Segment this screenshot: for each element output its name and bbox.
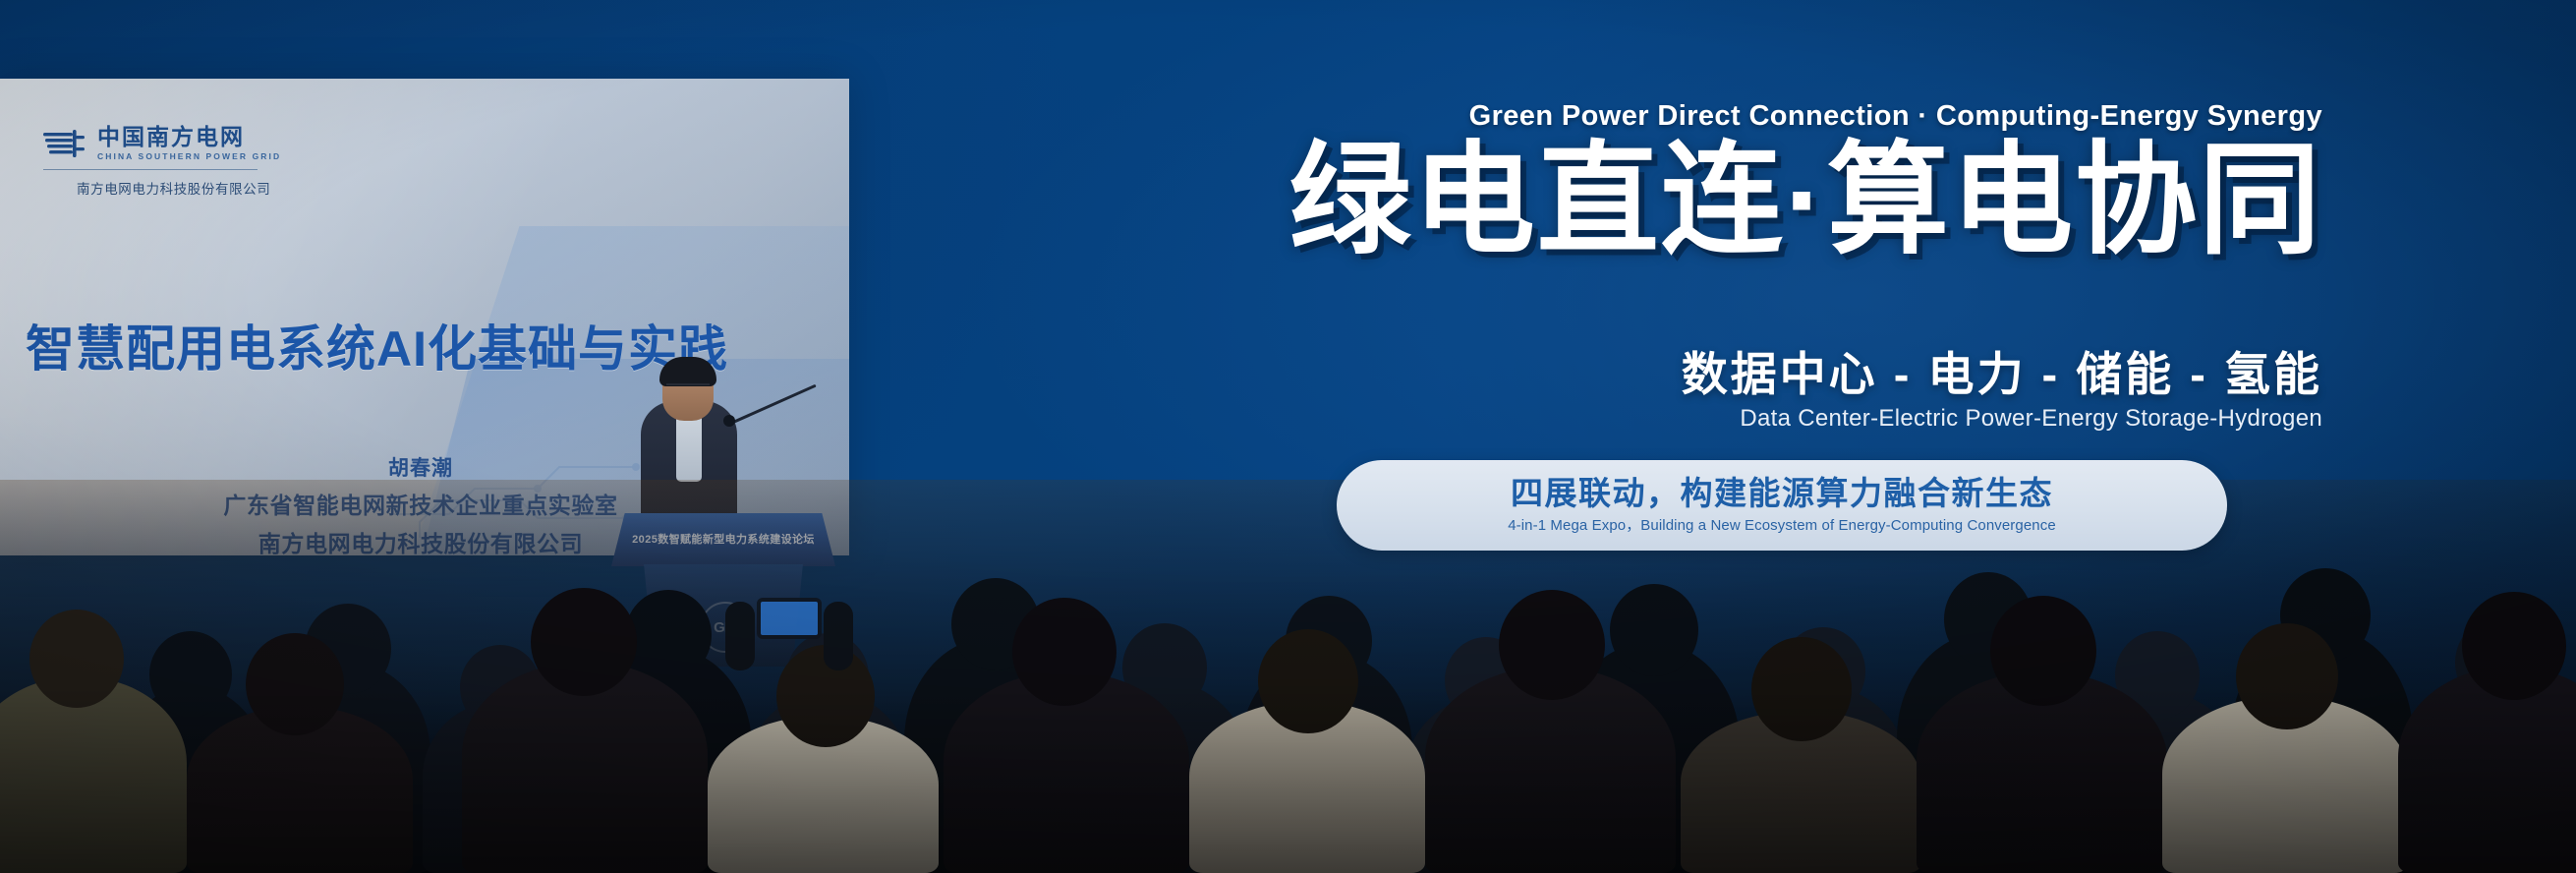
expo-badge-pill[interactable]: 四展联动，构建能源算力融合新生态 4-in-1 Mega Expo，Buildi… xyxy=(1337,460,2227,551)
audience-member-head xyxy=(1610,584,1698,676)
raised-hand xyxy=(725,602,755,670)
subheadline-english: Data Center-Electric Power-Energy Storag… xyxy=(1740,405,2322,433)
logo-company-name: 南方电网电力科技股份有限公司 xyxy=(77,178,281,198)
china-southern-power-grid-logo-icon xyxy=(43,128,86,159)
conference-hero-banner: 中国南方电网 CHINA SOUTHERN POWER GRID 南方电网电力科… xyxy=(0,0,2576,873)
tagline-english: Green Power Direct Connection · Computin… xyxy=(1469,100,2322,133)
smartphone-screen xyxy=(757,598,822,639)
audience-member-head xyxy=(531,588,637,696)
logo-text-en: CHINA SOUTHERN POWER GRID xyxy=(97,151,281,161)
speaker-hair xyxy=(659,357,716,386)
logo-divider xyxy=(43,169,258,170)
audience-member-head xyxy=(2462,592,2566,700)
subheadline-chinese: 数据中心 - 电力 - 储能 - 氢能 xyxy=(1682,336,2322,404)
audience-foreground-shade xyxy=(0,686,2576,873)
microphone-head xyxy=(723,415,735,427)
audience-member-head xyxy=(1499,590,1605,700)
slide-logo-block: 中国南方电网 CHINA SOUTHERN POWER GRID 南方电网电力科… xyxy=(43,126,281,198)
speaker-glasses xyxy=(666,383,710,392)
microphone-stem xyxy=(732,384,816,424)
expo-badge-english: 4-in-1 Mega Expo，Building a New Ecosyste… xyxy=(1508,514,2056,535)
audience-member-head xyxy=(625,590,712,680)
speaker-shirt xyxy=(676,411,702,482)
headline-chinese: 绿电直连·算电协同 xyxy=(1289,136,2322,267)
expo-badge-chinese: 四展联动，构建能源算力融合新生态 xyxy=(1511,476,2053,511)
logo-text-cn: 中国南方电网 xyxy=(97,126,281,148)
raised-hand xyxy=(824,602,853,670)
